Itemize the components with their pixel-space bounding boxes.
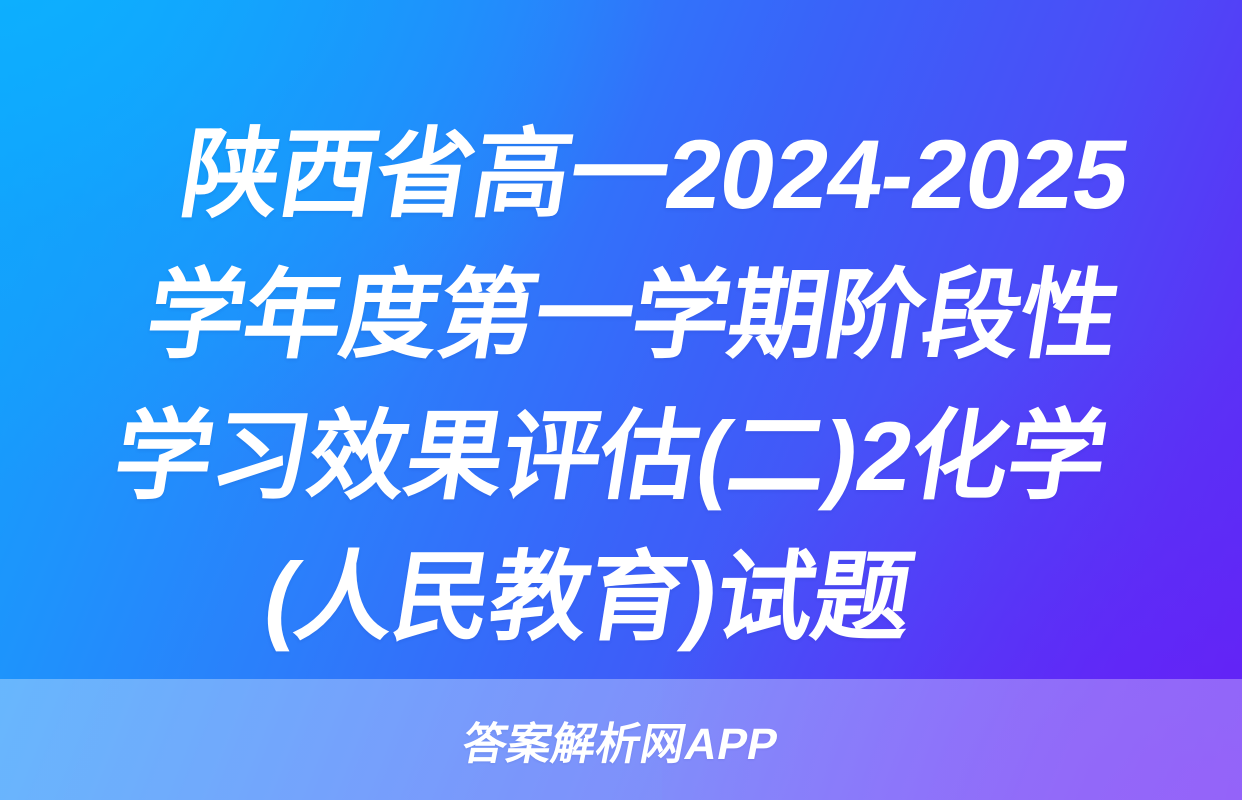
- page-title: 陕西省高一2024-2025学年度第一学期阶段性学习效果评估(二)2化学(人民教…: [59, 104, 1183, 668]
- title-line-1: 陕西省高一2024-2025: [174, 119, 1136, 229]
- title-container: 陕西省高一2024-2025学年度第一学期阶段性学习效果评估(二)2化学(人民教…: [0, 0, 1242, 690]
- title-line-4: 民教育)试题: [385, 542, 919, 652]
- footer-brand-band: 答案解析网APP: [0, 679, 1242, 800]
- exam-paper-cover: 陕西省高一2024-2025学年度第一学期阶段性学习效果评估(二)2化学(人民教…: [0, 0, 1242, 800]
- brand-watermark: 答案解析网APP: [458, 708, 785, 772]
